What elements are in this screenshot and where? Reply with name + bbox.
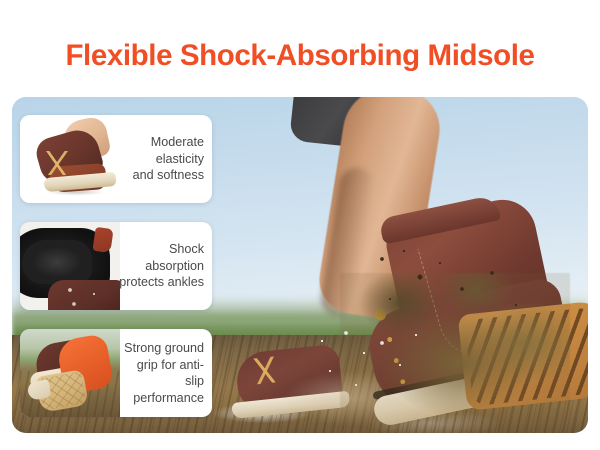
feature-card-1-text: Moderate elasticity and softness xyxy=(112,115,204,203)
feature-card-2-text: Shock absorption protects ankles xyxy=(112,222,204,310)
feature-card-1-line-1: Moderate xyxy=(133,134,204,151)
collar-interior xyxy=(22,240,92,284)
feature-card-anti-slip-grip[interactable]: Strong ground grip for anti- slip perfor… xyxy=(20,329,212,417)
feature-card-3-line-3: slip performance xyxy=(112,373,204,406)
boot-flex-hand-thumbnail xyxy=(20,115,120,203)
product-feature-banner: Flexible Shock-Absorbing Midsole xyxy=(0,0,600,450)
boot-orange-outsole-thumbnail xyxy=(20,329,120,417)
page-title: Flexible Shock-Absorbing Midsole xyxy=(0,36,600,76)
feature-card-2-line-1: Shock xyxy=(119,241,204,258)
boot-padded-collar-thumbnail xyxy=(20,222,120,310)
feature-card-moderate-elasticity[interactable]: Moderate elasticity and softness xyxy=(20,115,212,203)
feature-card-shock-absorption[interactable]: Shock absorption protects ankles xyxy=(20,222,212,310)
stitch-detail xyxy=(64,284,110,310)
feature-card-1-line-2: elasticity xyxy=(133,151,204,168)
feature-card-3-line-1: Strong ground xyxy=(112,340,204,357)
feature-card-3-text: Strong ground grip for anti- slip perfor… xyxy=(112,329,204,417)
water-droplets xyxy=(312,327,472,417)
feature-card-2-line-2: absorption xyxy=(119,258,204,275)
boot-laces xyxy=(42,151,72,175)
feature-card-2-line-3: protects ankles xyxy=(119,274,204,291)
feature-card-1-line-3: and softness xyxy=(133,167,204,184)
feature-card-3-line-2: grip for anti- xyxy=(112,357,204,374)
drop-shadow xyxy=(36,187,116,197)
